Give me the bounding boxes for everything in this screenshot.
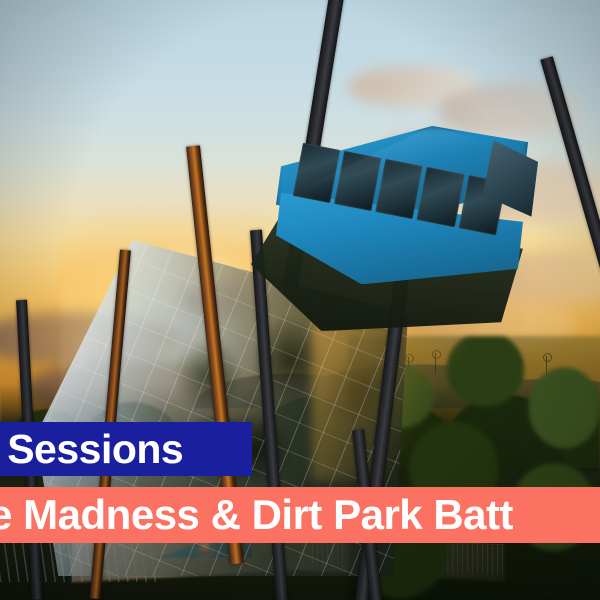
blue-banner-text: k Sessions xyxy=(0,429,183,470)
cabin-window xyxy=(376,159,424,219)
blue-cabin-structure xyxy=(276,126,528,306)
coral-banner-text: be Madness & Dirt Park Batt xyxy=(0,494,513,536)
cabin-window xyxy=(417,167,465,227)
cabin-window xyxy=(334,151,382,211)
coral-subtitle-banner: be Madness & Dirt Park Batt xyxy=(0,487,600,543)
blue-title-banner: k Sessions xyxy=(0,422,252,476)
cabin-window xyxy=(293,143,341,203)
photo-banner-card: k Sessions be Madness & Dirt Park Batt xyxy=(0,0,600,600)
